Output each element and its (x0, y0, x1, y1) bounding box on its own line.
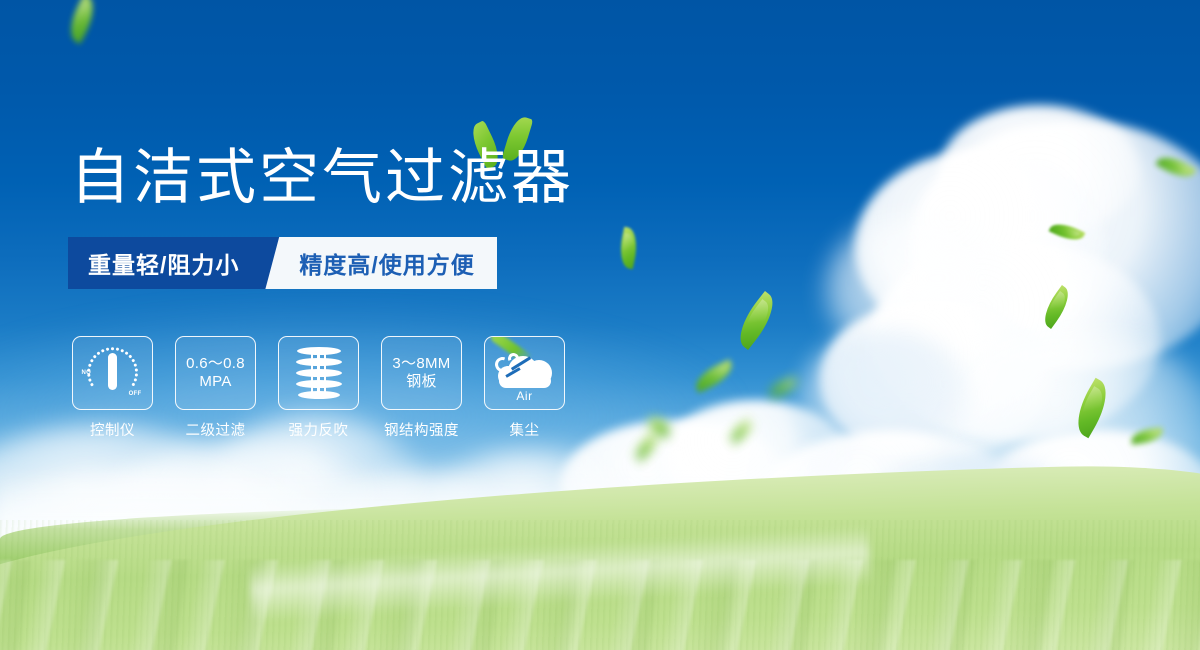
feature-icon-box: 0.6～0.8 MPA (175, 336, 256, 410)
air-cloud-icon: Air (492, 344, 558, 402)
pressure-value-icon: 0.6～0.8 MPA (186, 355, 245, 391)
feature-item-control-dial[interactable]: NO OFF 控制仪 (72, 336, 153, 440)
coil-filter-icon (296, 345, 342, 401)
dial-needle-icon (108, 353, 117, 390)
feature-icon-box: Air (484, 336, 565, 410)
steel-plate-icon: 3～8MM 钢板 (392, 355, 450, 391)
air-label: Air (492, 389, 558, 403)
feature-label: 强力反吹 (278, 419, 359, 440)
feature-label: 二级过滤 (175, 419, 256, 440)
dial-off-label: OFF (129, 391, 142, 397)
feature-label: 控制仪 (72, 419, 153, 440)
dial-on-label: NO (82, 370, 92, 376)
product-hero-banner: 自洁式空气过滤器 重量轻/阻力小 精度高/使用方便 (0, 0, 1200, 650)
feature-icon-box (278, 336, 359, 410)
feature-label: 钢结构强度 (381, 419, 462, 440)
pressure-range: 0.6～0.8 (186, 355, 245, 373)
feature-icon-box: NO OFF (72, 336, 153, 410)
control-dial-icon: NO OFF (82, 344, 144, 402)
feature-item-backblow[interactable]: 强力反吹 (278, 336, 359, 440)
subtitle-bar: 重量轻/阻力小 精度高/使用方便 (68, 237, 497, 289)
feature-list: NO OFF 控制仪 0.6～0.8 MPA 二级过滤 (72, 336, 565, 440)
feature-item-dust-collection[interactable]: Air 集尘 (484, 336, 565, 440)
feature-label: 集尘 (484, 419, 565, 440)
page-title: 自洁式空气过滤器 (70, 143, 574, 213)
pressure-unit: MPA (186, 373, 245, 391)
subtitle-right-text: 精度高/使用方便 (295, 237, 496, 289)
steel-material: 钢板 (392, 373, 450, 391)
steel-thickness: 3～8MM (392, 355, 450, 373)
subtitle-divider (265, 237, 295, 289)
subtitle-left-text: 重量轻/阻力小 (68, 237, 265, 289)
feature-item-steel-plate[interactable]: 3～8MM 钢板 钢结构强度 (381, 336, 462, 440)
feature-icon-box: 3～8MM 钢板 (381, 336, 462, 410)
feature-item-pressure[interactable]: 0.6～0.8 MPA 二级过滤 (175, 336, 256, 440)
